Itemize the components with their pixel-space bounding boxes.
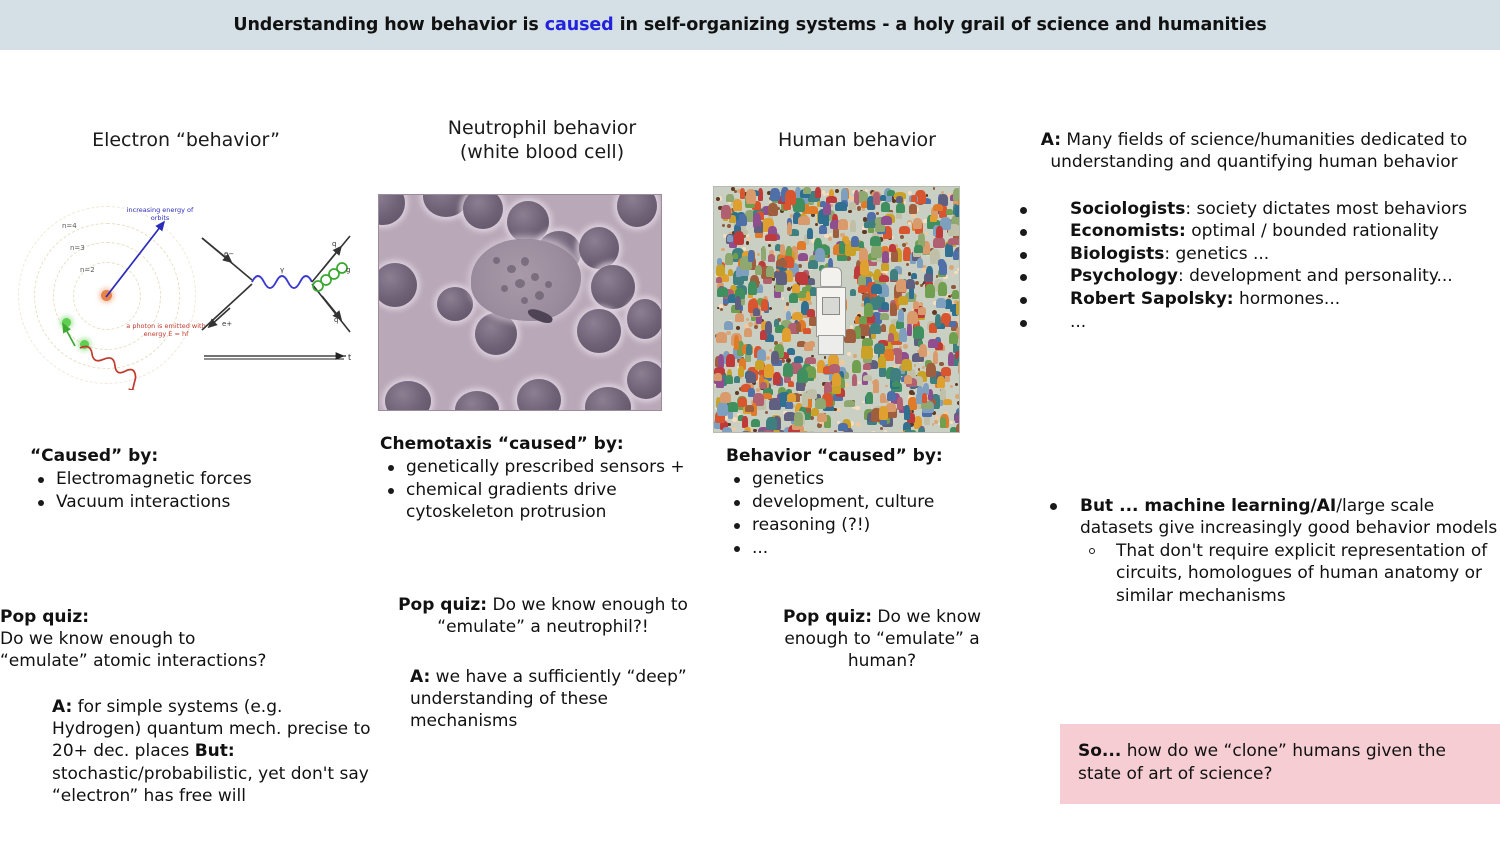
robot-panel	[822, 297, 840, 315]
field-rest: optimal / bounded rationality	[1186, 221, 1439, 241]
crowd-person	[890, 368, 901, 381]
crowd-person-head	[847, 352, 851, 356]
crowd-person-head	[957, 401, 960, 405]
crowd-person-head	[837, 408, 841, 412]
crowd-person	[849, 202, 857, 210]
crowd-person-head	[817, 423, 822, 428]
crowd-person	[925, 284, 935, 298]
human-caused-heading: Behavior “caused” by:	[726, 446, 1016, 466]
crowd-person	[776, 259, 787, 268]
crowd-person	[795, 272, 805, 282]
crowd-person	[936, 298, 946, 309]
crowd-person-head	[900, 235, 905, 240]
crowd-person	[870, 323, 881, 334]
crowd-person-head	[769, 307, 772, 310]
answer-label: A:	[1041, 130, 1061, 150]
crowd-person	[774, 271, 779, 278]
crowd-person	[906, 279, 915, 289]
crowd-person	[890, 303, 897, 316]
svg-text:q̄: q̄	[334, 316, 338, 324]
crowd-person	[805, 357, 816, 364]
red-blood-cell	[378, 263, 417, 307]
crowd-person	[798, 216, 810, 225]
crowd-person	[899, 226, 910, 235]
crowd-person-head	[726, 331, 730, 335]
svg-text:e−: e−	[224, 250, 234, 258]
crowd-person	[733, 199, 743, 211]
field-term: Robert Sapolsky:	[1070, 289, 1234, 309]
crowd-person	[879, 275, 890, 282]
list-item: ...	[726, 537, 1016, 559]
column-neutrophil: Neutrophil behavior (white blood cell)	[372, 116, 712, 165]
crowd-person	[788, 381, 794, 387]
list-item: Electromagnetic forces	[30, 468, 370, 490]
crowd-person	[948, 238, 960, 245]
crowd-person	[844, 400, 855, 407]
crowd-person	[807, 228, 813, 238]
crowd-person	[792, 284, 800, 294]
crowd-person	[918, 307, 926, 315]
crowd-person	[832, 373, 841, 387]
crowd-person	[717, 258, 722, 265]
crowd-person	[945, 299, 952, 309]
crowd-person	[917, 386, 923, 394]
column-human: Human behavior Behavior “caused” by: gen…	[712, 128, 1012, 152]
crowd-person-head	[926, 194, 929, 197]
red-blood-cell	[385, 381, 431, 411]
crowd-person	[909, 204, 916, 214]
crowd-person	[904, 375, 912, 384]
crowd-person	[718, 354, 725, 368]
crowd-person	[898, 309, 904, 322]
neutrophil-quiz-block: Pop quiz: Do we know enough to “emulate”…	[378, 594, 708, 732]
crowd-person-head	[732, 427, 736, 431]
answer-label: A:	[410, 667, 430, 687]
crowd-person	[943, 399, 952, 405]
crowd-person	[803, 328, 809, 334]
crowd-person	[761, 246, 767, 261]
crowd-person	[919, 344, 928, 357]
human-caused-list: genetics development, culture reasoning …	[726, 468, 1016, 559]
crowd-person-head	[871, 431, 876, 433]
crowd-person	[721, 205, 731, 219]
crowd-person	[757, 431, 765, 433]
crowd-person	[873, 192, 879, 205]
list-item: Vacuum interactions	[30, 491, 370, 513]
crowd-person-head	[721, 248, 725, 252]
energy-and-photon-arrows	[8, 200, 208, 390]
crowd-person	[807, 389, 817, 399]
crowd-person	[860, 260, 869, 275]
crowd-person-head	[955, 383, 959, 387]
column-human-title: Human behavior	[712, 128, 1002, 152]
crowd-person	[753, 308, 761, 315]
crowd-person	[716, 332, 727, 344]
answer-label: A:	[52, 697, 72, 717]
crowd-person-head	[933, 187, 936, 190]
robot-head	[820, 267, 842, 287]
crowd-person	[890, 269, 898, 281]
list-item: Economists: optimal / bounded rationalit…	[1012, 220, 1500, 243]
neutrophil-caused-list: genetically prescribed sensors + chemica…	[380, 456, 710, 523]
crowd-person	[787, 393, 796, 402]
but-label: But:	[195, 741, 235, 761]
crowd-person	[740, 188, 745, 199]
so-callout-box: So... how do we “clone” humans given the…	[1060, 724, 1500, 804]
crowd-person	[787, 222, 793, 236]
crowd-person	[935, 314, 941, 327]
crowd-person	[895, 349, 902, 363]
crowd-person-head	[906, 263, 909, 266]
svg-text:e+: e+	[222, 320, 232, 328]
crowd-person	[955, 415, 961, 423]
field-rest: : development and personality...	[1178, 266, 1453, 286]
crowd-person	[870, 236, 882, 247]
crowd-person-head	[880, 427, 884, 431]
crowd-person	[918, 427, 925, 433]
crowd-person	[956, 301, 960, 315]
crowd-person	[922, 393, 927, 403]
electron-caused-list: Electromagnetic forces Vacuum interactio…	[30, 468, 370, 513]
list-item: development, culture	[726, 491, 1016, 513]
red-blood-cell	[517, 379, 561, 411]
robot-legs	[818, 335, 844, 355]
crowd-person-head	[908, 222, 911, 225]
crowd-person	[802, 287, 807, 293]
crowd-person	[798, 253, 808, 261]
crowd-person-head	[766, 356, 770, 360]
crowd-person	[863, 363, 872, 370]
crowd-person	[797, 241, 806, 250]
crowd-person	[897, 397, 903, 410]
electron-figure: n=2 n=3 n=4 increasing energy o	[8, 200, 358, 400]
crowd-person-head	[835, 189, 839, 193]
crowd-person	[881, 216, 892, 225]
crowd-person-head	[829, 233, 832, 236]
crowd-person	[914, 432, 922, 433]
crowd-person	[863, 375, 872, 382]
crowd-person	[783, 363, 793, 377]
crowd-person-head	[768, 244, 771, 247]
column-neutrophil-title: Neutrophil behavior (white blood cell)	[372, 116, 712, 165]
crowd-person-head	[950, 385, 953, 388]
crowd-person	[937, 376, 945, 388]
crowd-person	[940, 388, 947, 400]
crowd-person	[748, 281, 757, 296]
column-neutrophil-title-line1: Neutrophil behavior	[448, 117, 637, 139]
quiz-label: Pop quiz:	[0, 607, 89, 627]
crowd-person	[839, 241, 846, 255]
svg-text:γ: γ	[280, 266, 284, 274]
crowd-person	[804, 342, 813, 352]
neutrophil-quiz-question: Pop quiz: Do we know enough to “emulate”…	[378, 594, 708, 638]
list-item: Biologists: genetics ...	[1012, 243, 1500, 266]
crowd-person	[786, 311, 792, 321]
crowd-person	[796, 322, 801, 332]
crowd-person	[765, 321, 773, 335]
crowd-person	[949, 332, 959, 345]
red-blood-cell	[617, 194, 657, 227]
crowd-person-head	[732, 417, 737, 422]
crowd-person-head	[925, 232, 928, 235]
list-item: Robert Sapolsky: hormones...	[1012, 288, 1500, 311]
crowd-person	[861, 345, 872, 359]
list-item: genetically prescribed sensors +	[380, 456, 710, 478]
crowd-person	[881, 302, 889, 310]
crowd-person	[911, 195, 917, 202]
but-text: stochastic/probabilistic, yet don't say …	[52, 764, 369, 806]
crowd-person	[780, 244, 786, 255]
crowd-person	[850, 289, 856, 296]
quiz-label: Pop quiz:	[398, 595, 487, 615]
list-item: Psychology: development and personality.…	[1012, 265, 1500, 288]
crowd-person	[771, 351, 778, 364]
crowd-person-head	[754, 325, 758, 329]
crowd-person-head	[756, 388, 760, 392]
crowd-person	[955, 205, 960, 217]
crowd-person	[938, 282, 947, 296]
crowd-person	[850, 220, 856, 232]
crowd-person	[888, 333, 894, 342]
list-item: That don't require explicit representati…	[1080, 540, 1500, 607]
crowd-person-head	[914, 364, 917, 367]
red-blood-cell	[378, 194, 405, 225]
crowd-person	[928, 339, 937, 348]
crowd-person-head	[782, 297, 785, 300]
crowd-person	[797, 369, 808, 383]
crowd-person-head	[736, 326, 741, 331]
crowd-person	[933, 351, 938, 363]
crowd-person	[911, 273, 917, 279]
machine-learning-block: But ... machine learning/AI/large scale …	[1042, 495, 1500, 607]
crowd-person	[741, 431, 751, 433]
field-term: Economists:	[1070, 221, 1186, 241]
crowd-person	[835, 202, 847, 211]
crowd-person	[936, 226, 943, 239]
column-fields: A: Many fields of science/humanities ded…	[1012, 130, 1500, 333]
crowd-person-head	[765, 411, 768, 414]
crowd-person-head	[784, 306, 789, 311]
crowd-person-head	[950, 421, 953, 424]
column-electron-title: Electron “behavior”	[0, 128, 372, 152]
crowd-person	[785, 190, 796, 204]
crowd-person	[913, 218, 922, 230]
crowd-person	[864, 221, 875, 227]
crowd-person	[896, 203, 905, 214]
crowd-person-head	[815, 223, 819, 227]
crowd-person	[852, 374, 857, 386]
crowd-person-head	[845, 383, 849, 387]
crowd-person	[948, 352, 955, 366]
crowd-person	[714, 373, 722, 382]
crowd-person	[794, 356, 804, 363]
crowd-person	[933, 204, 944, 211]
red-blood-cell	[455, 391, 499, 411]
crowd-person	[792, 312, 804, 320]
page-title: Understanding how behavior is caused in …	[233, 15, 1266, 35]
crowd-person-head	[772, 277, 775, 280]
red-blood-cell	[423, 194, 469, 217]
red-blood-cell	[437, 287, 473, 321]
crowd-person	[770, 188, 780, 201]
crowd-person-head	[903, 344, 908, 349]
crowd-person	[722, 427, 732, 433]
crowd-person	[899, 328, 907, 343]
crowd-person	[879, 406, 888, 420]
list-item: But ... machine learning/AI/large scale …	[1042, 495, 1500, 607]
field-rest: : genetics ...	[1164, 244, 1269, 264]
crowd-person	[924, 273, 933, 282]
crowd-person-head	[828, 237, 832, 241]
crowd-person	[768, 203, 778, 216]
crowd-person-head	[858, 381, 861, 384]
crowd-person	[735, 296, 741, 311]
page-title-highlight: caused	[545, 15, 614, 35]
so-bold: So...	[1078, 741, 1121, 761]
red-blood-cell	[627, 361, 662, 399]
feynman-diagram: t e− e+ γ q q̄ g	[194, 214, 358, 374]
crowd-person	[838, 423, 848, 432]
crowd-person-head	[848, 210, 852, 214]
field-term: Psychology	[1070, 266, 1178, 286]
crowd-person	[782, 328, 791, 342]
human-caused-block: Behavior “caused” by: genetics developme…	[726, 446, 1016, 560]
crowd-person	[744, 328, 752, 337]
red-blood-cell	[463, 194, 503, 229]
crowd-person	[864, 303, 873, 317]
crowd-person	[726, 354, 735, 367]
red-blood-cell	[627, 299, 662, 339]
crowd-person-head	[840, 360, 845, 365]
crowd-person	[766, 417, 777, 431]
crowd-person	[726, 375, 733, 384]
crowd-person	[717, 287, 728, 297]
crowd-person	[930, 215, 937, 222]
crowd-person	[881, 202, 890, 212]
crowd-person	[728, 402, 738, 412]
crowd-person-head	[909, 390, 914, 395]
crowd-person	[761, 299, 768, 310]
crowd-person	[878, 356, 886, 368]
crowd-person	[889, 244, 896, 252]
crowd-person-head	[855, 406, 860, 411]
crowd-person	[838, 219, 848, 230]
quiz-line2: “emulate” atomic interactions?	[0, 651, 266, 671]
electron-quiz-block: Pop quiz: Do we know enough to “emulate”…	[0, 606, 380, 807]
crowd-person	[789, 293, 798, 303]
crowd-person	[815, 398, 827, 410]
crowd-person-head	[899, 430, 902, 433]
crowd-person	[727, 235, 732, 242]
crowd-person-head	[943, 432, 947, 433]
crowd-person	[734, 376, 740, 383]
crowd-person	[808, 431, 815, 433]
crowd-person-head	[746, 318, 749, 321]
crowd-person-head	[787, 287, 791, 291]
crowd-person	[817, 413, 827, 423]
svg-text:t: t	[348, 353, 351, 362]
crowd-person	[760, 382, 767, 389]
crowd-person-head	[939, 362, 943, 366]
crowd-person	[755, 360, 764, 370]
crowd-person	[926, 363, 936, 378]
field-rest: ...	[1070, 312, 1086, 332]
crowd-person	[746, 344, 752, 356]
crowd-person-head	[727, 224, 731, 228]
fields-list: Sociologists: society dictates most beha…	[1012, 198, 1500, 334]
crowd-person-head	[935, 415, 940, 420]
red-blood-cell	[585, 387, 631, 411]
crowd-illustration	[713, 186, 960, 433]
crowd-person	[724, 321, 733, 331]
crowd-person	[745, 405, 754, 413]
crowd-person-head	[753, 429, 756, 432]
neutrophil-caused-block: Chemotaxis “caused” by: genetically pres…	[380, 434, 710, 524]
crowd-person	[913, 326, 924, 339]
crowd-person-head	[853, 354, 857, 358]
red-blood-cell	[577, 309, 621, 353]
crowd-person	[862, 338, 874, 346]
crowd-person	[886, 403, 896, 412]
crowd-person	[748, 250, 754, 262]
crowd-person	[866, 392, 872, 404]
red-blood-cell	[579, 227, 619, 269]
crowd-person-head	[954, 271, 958, 275]
red-blood-cell	[591, 265, 635, 309]
page-title-part1: Understanding how behavior is	[233, 15, 544, 35]
crowd-person-head	[746, 241, 750, 245]
neutrophil-micrograph	[378, 194, 662, 411]
crowd-person-head	[876, 212, 880, 216]
neutrophil-cell	[471, 239, 581, 321]
crowd-person	[755, 265, 762, 276]
page-title-part2: in self-organizing systems - a holy grai…	[614, 15, 1267, 35]
crowd-person	[901, 359, 912, 371]
list-item: Sociologists: society dictates most beha…	[1012, 198, 1500, 221]
crowd-person	[938, 259, 945, 266]
field-term: Sociologists	[1070, 199, 1185, 219]
crowd-person-head	[757, 253, 760, 256]
human-quiz-block: Pop quiz: Do we know enough to “emulate”…	[752, 606, 1012, 672]
field-term: Biologists	[1070, 244, 1164, 264]
field-rest: : society dictates most behaviors	[1185, 199, 1467, 219]
crowd-person	[873, 379, 880, 393]
crowd-person	[941, 367, 951, 377]
crowd-person	[773, 372, 781, 385]
robot-figure	[814, 267, 846, 353]
crowd-person	[904, 405, 910, 420]
crowd-person	[734, 231, 744, 245]
crowd-person-head	[823, 430, 827, 433]
crowd-person	[717, 402, 728, 416]
crowd-person	[794, 412, 803, 426]
crowd-person	[852, 360, 861, 373]
crowd-person-head	[949, 265, 954, 270]
list-item: chemical gradients drive cytoskeleton pr…	[380, 479, 710, 523]
list-item: reasoning (?!)	[726, 514, 1016, 536]
crowd-person-head	[885, 385, 888, 388]
crowd-person	[823, 218, 829, 226]
crowd-person	[958, 360, 961, 373]
crowd-person	[766, 266, 774, 277]
crowd-person-head	[952, 274, 955, 277]
machine-learning-sublist: That don't require explicit representati…	[1080, 540, 1500, 607]
crowd-person-head	[720, 308, 724, 312]
crowd-person-head	[856, 422, 861, 427]
red-blood-cell	[475, 313, 517, 355]
electron-quiz-question: Pop quiz: Do we know enough to “emulate”…	[0, 606, 380, 672]
field-rest: hormones...	[1234, 289, 1341, 309]
